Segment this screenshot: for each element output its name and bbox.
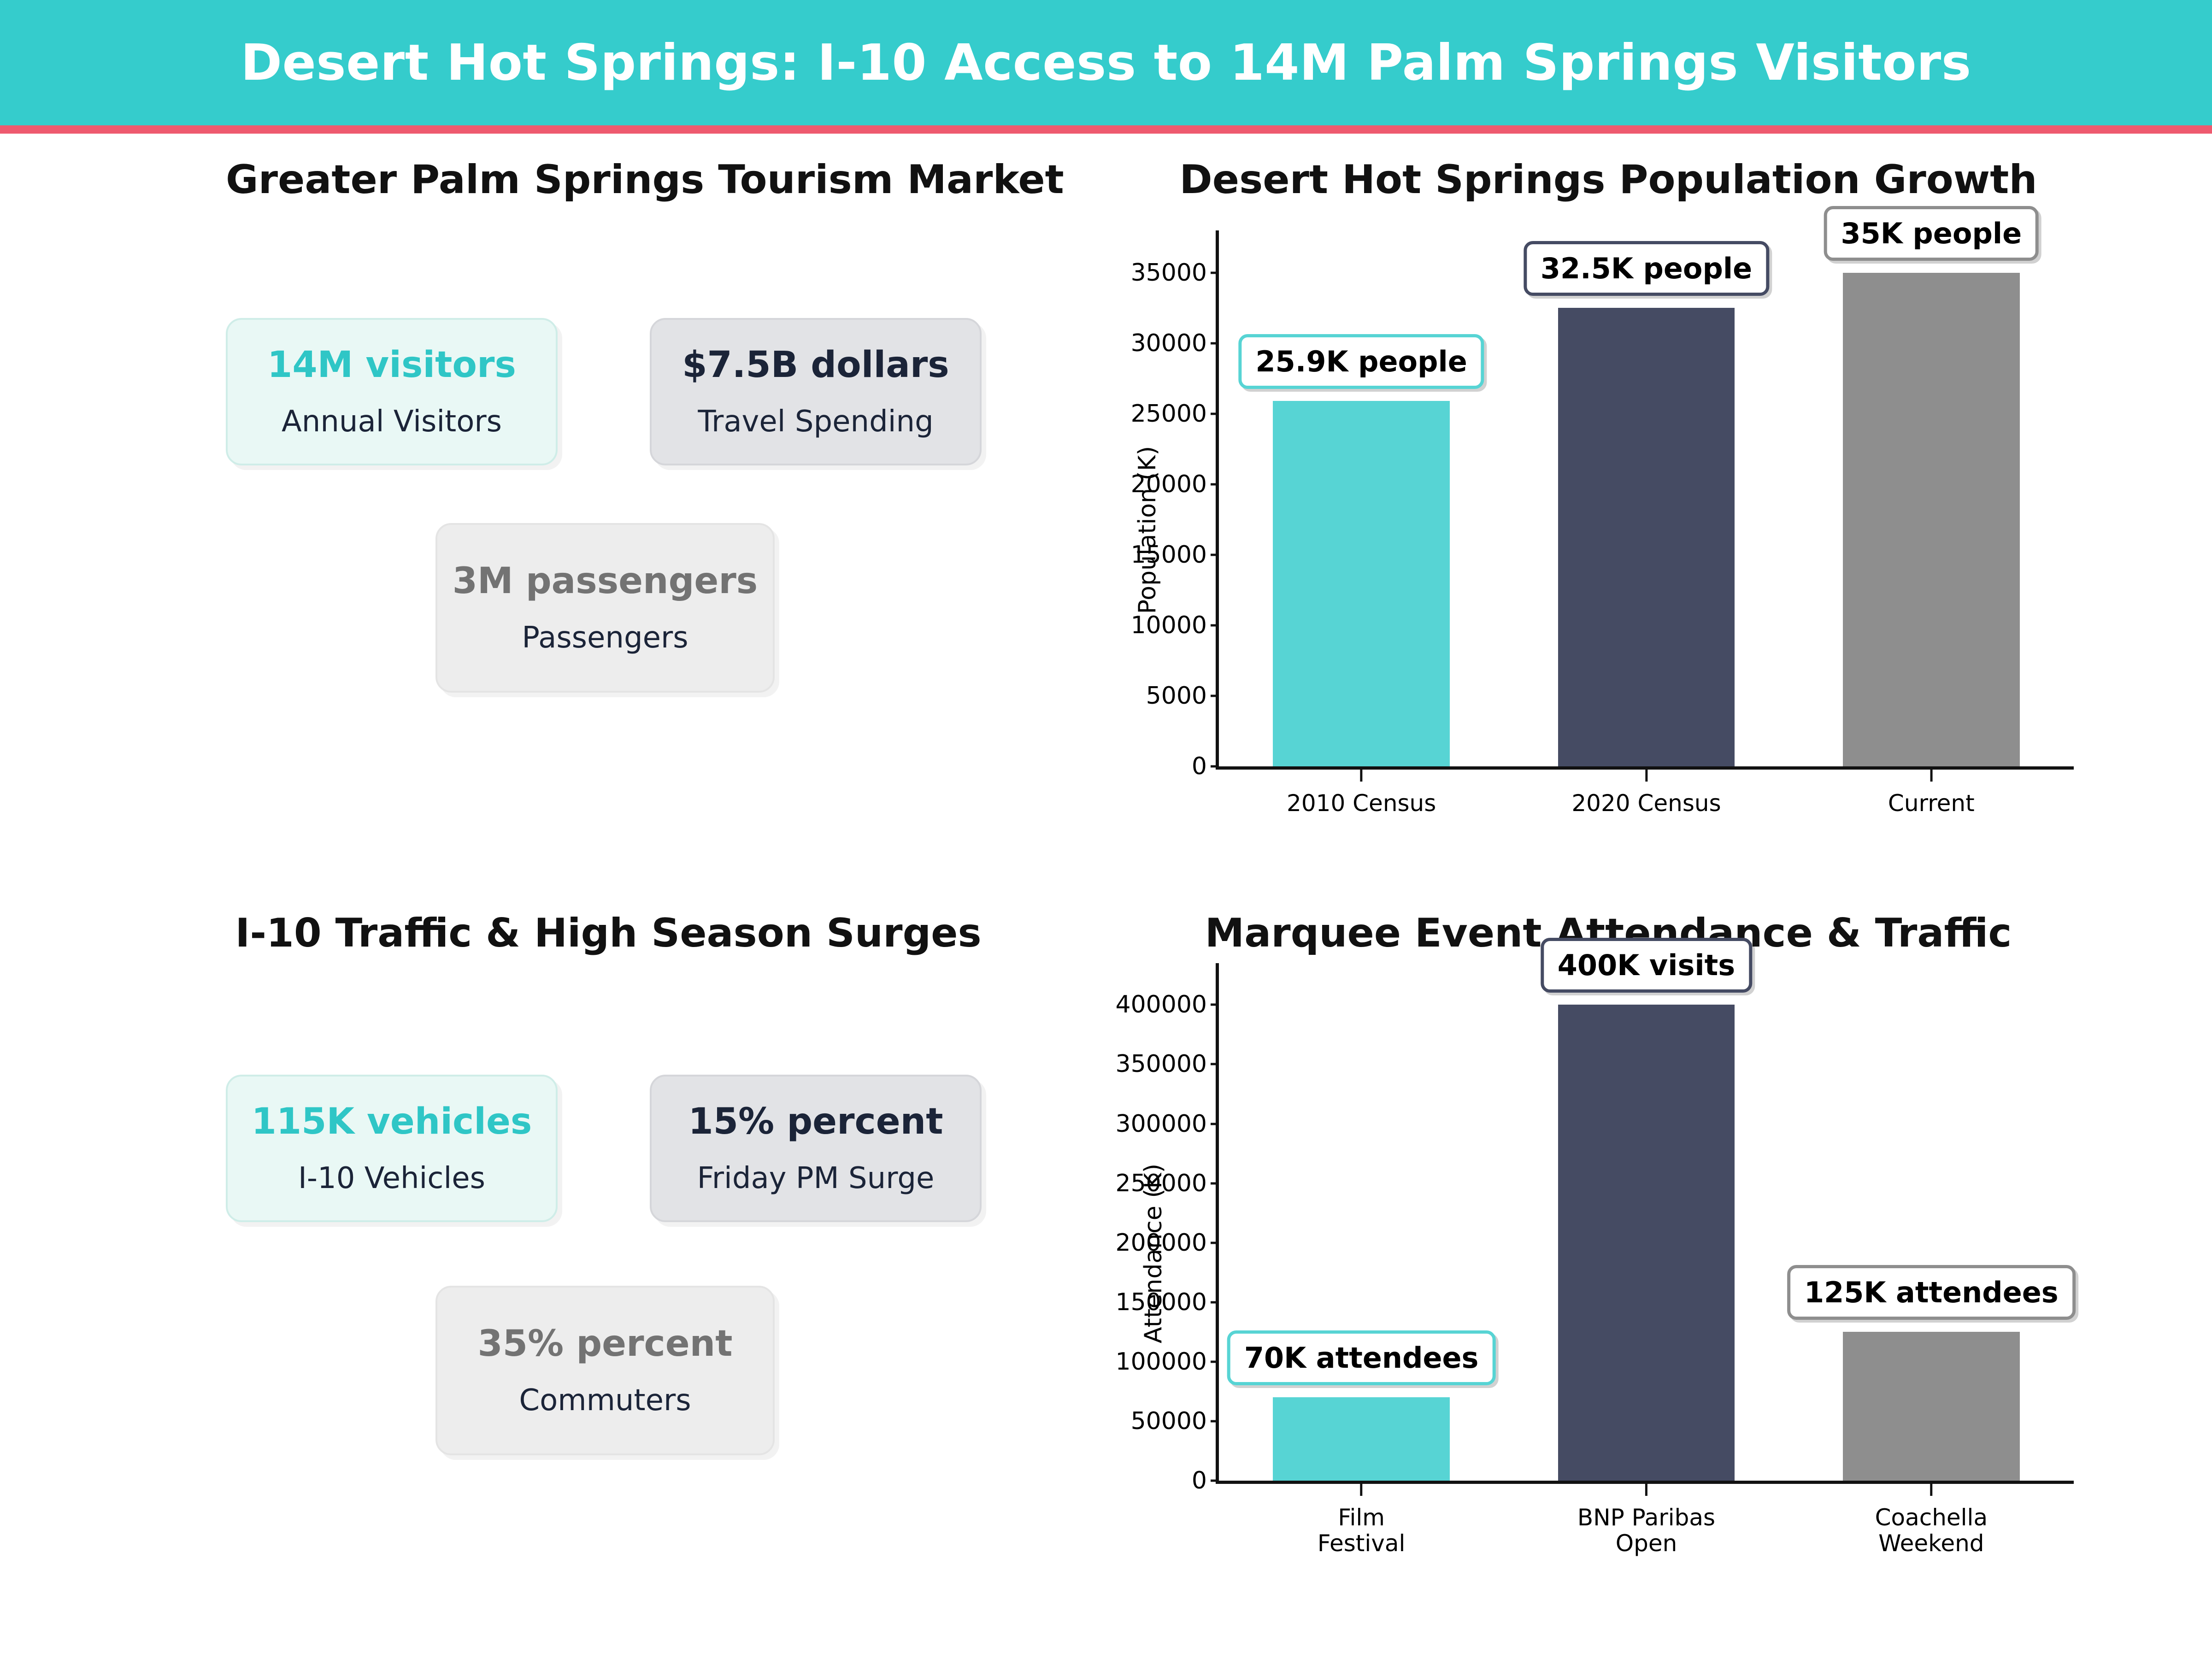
kpi-value: $7.5B dollars [682, 347, 949, 383]
x-axis-tick: BNP Paribas Open [1577, 1481, 1715, 1556]
bar [1558, 1005, 1735, 1481]
x-axis-tick: Current [1888, 766, 1975, 816]
kpi-value: 15% percent [688, 1104, 943, 1140]
y-axis-tick: 300000 [1115, 1110, 1219, 1138]
y-axis-tick: 150000 [1115, 1288, 1219, 1316]
bar-value-annotation: 400K visits [1541, 938, 1752, 993]
y-axis-tick: 15000 [1131, 541, 1219, 569]
kpi-card-friday-pm-surge: 15% percent Friday PM Surge [650, 1075, 982, 1222]
bar [1843, 1332, 2019, 1481]
bar-value-annotation: 35K people [1824, 206, 2039, 261]
header-accent-line [0, 125, 2212, 134]
page-title: Desert Hot Springs: I-10 Access to 14M P… [241, 34, 1971, 92]
bar [1558, 308, 1735, 766]
bar-value-annotation: 125K attendees [1787, 1265, 2076, 1320]
plot-area: 050001000015000200002500030000350002010 … [1216, 230, 2074, 770]
bar-value-annotation: 70K attendees [1227, 1330, 1496, 1385]
bar-value-annotation: 32.5K people [1524, 241, 1769, 296]
kpi-label: Passengers [522, 623, 688, 653]
y-axis-tick: 0 [1192, 753, 1219, 780]
y-axis-tick: 30000 [1131, 329, 1219, 357]
y-axis-tick: 35000 [1131, 259, 1219, 287]
y-axis-tick: 0 [1192, 1467, 1219, 1494]
y-axis-tick: 10000 [1131, 612, 1219, 639]
bar [1273, 401, 1449, 766]
y-axis-tick: 20000 [1131, 471, 1219, 498]
y-axis-tick: 200000 [1115, 1229, 1219, 1257]
kpi-label: Annual Visitors [282, 407, 502, 436]
kpi-value: 115K vehicles [252, 1104, 532, 1140]
panel-title-population: Desert Hot Springs Population Growth [1161, 157, 2055, 203]
chart-population-growth: Population (K) 0500010000150002000025000… [1069, 221, 2074, 839]
kpi-label: Travel Spending [698, 407, 933, 436]
kpi-value: 14M visitors [267, 347, 516, 383]
kpi-value: 35% percent [477, 1326, 732, 1362]
y-axis-tick: 250000 [1115, 1170, 1219, 1197]
kpi-label: Commuters [519, 1386, 691, 1415]
bar [1273, 1397, 1449, 1481]
kpi-card-passengers: 3M passengers Passengers [435, 523, 775, 693]
chart-event-attendance: Attendance (K) 0500001000001500002000002… [1069, 954, 2074, 1553]
y-axis-tick: 5000 [1146, 682, 1219, 710]
y-axis-tick: 25000 [1131, 400, 1219, 428]
infographic-page: Desert Hot Springs: I-10 Access to 14M P… [0, 0, 2212, 1659]
kpi-value: 3M passengers [453, 563, 758, 599]
x-axis-tick: 2010 Census [1287, 766, 1436, 816]
header-banner: Desert Hot Springs: I-10 Access to 14M P… [0, 0, 2212, 125]
kpi-card-i10-vehicles: 115K vehicles I-10 Vehicles [226, 1075, 558, 1222]
panel-title-traffic: I-10 Traffic & High Season Surges [226, 910, 991, 956]
y-axis-tick: 400000 [1115, 991, 1219, 1018]
kpi-card-annual-visitors: 14M visitors Annual Visitors [226, 318, 558, 465]
kpi-label: Friday PM Surge [697, 1164, 935, 1193]
plot-area: 0500001000001500002000002500003000003500… [1216, 963, 2074, 1484]
kpi-card-commuters: 35% percent Commuters [435, 1286, 775, 1455]
kpi-card-travel-spending: $7.5B dollars Travel Spending [650, 318, 982, 465]
y-axis-tick: 100000 [1115, 1348, 1219, 1376]
x-axis-tick: 2020 Census [1571, 766, 1721, 816]
x-axis-tick: Coachella Weekend [1875, 1481, 1988, 1556]
panel-title-tourism: Greater Palm Springs Tourism Market [226, 157, 991, 203]
kpi-label: I-10 Vehicles [298, 1164, 485, 1193]
y-axis-tick: 50000 [1131, 1407, 1219, 1435]
bar-value-annotation: 25.9K people [1239, 334, 1484, 389]
x-axis-tick: Film Festival [1318, 1481, 1405, 1556]
y-axis-tick: 350000 [1115, 1050, 1219, 1078]
bar [1843, 273, 2019, 766]
